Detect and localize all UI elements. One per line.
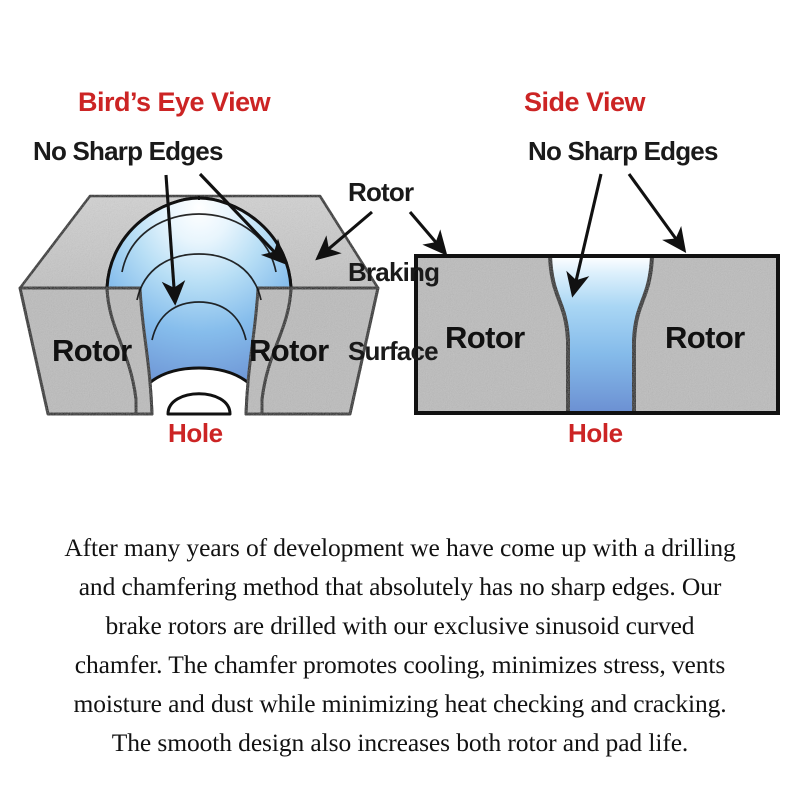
callout-line-2: Braking bbox=[348, 259, 439, 286]
left-no-sharp-edges-label: No Sharp Edges bbox=[33, 138, 223, 165]
birds-eye-view-title: Bird’s Eye View bbox=[78, 88, 270, 116]
callout-line-1: Rotor bbox=[348, 179, 439, 206]
arrow-right-no-sharp-edges-2 bbox=[629, 174, 684, 250]
paragraph-line: After many years of development we have … bbox=[8, 528, 792, 567]
description-paragraph: After many years of development we have … bbox=[8, 528, 792, 762]
paragraph-line: chamfer. The chamfer promotes cooling, m… bbox=[8, 645, 792, 684]
left-figure-rotor-label-right: Rotor bbox=[249, 333, 329, 369]
rotor-braking-surface-callout: Rotor Braking Surface bbox=[348, 126, 439, 418]
diagram-canvas: Bird’s Eye View No Sharp Edges Rotor Bra… bbox=[0, 0, 800, 800]
side-view-title: Side View bbox=[524, 88, 645, 116]
left-figure-rotor-label-left: Rotor bbox=[52, 333, 132, 369]
hole-exit-notch bbox=[168, 394, 230, 414]
callout-line-3: Surface bbox=[348, 338, 439, 365]
right-no-sharp-edges-label: No Sharp Edges bbox=[528, 138, 718, 165]
right-hole-label: Hole bbox=[568, 420, 623, 447]
paragraph-line: and chamfering method that absolutely ha… bbox=[8, 567, 792, 606]
paragraph-line: moisture and dust while minimizing heat … bbox=[8, 684, 792, 723]
paragraph-line: The smooth design also increases both ro… bbox=[8, 723, 792, 762]
right-figure-rotor-label-right: Rotor bbox=[665, 320, 745, 356]
left-hole-label: Hole bbox=[168, 420, 223, 447]
birds-eye-diagram bbox=[20, 196, 378, 414]
paragraph-line: brake rotors are drilled with our exclus… bbox=[8, 606, 792, 645]
right-figure-rotor-label-left: Rotor bbox=[445, 320, 525, 356]
